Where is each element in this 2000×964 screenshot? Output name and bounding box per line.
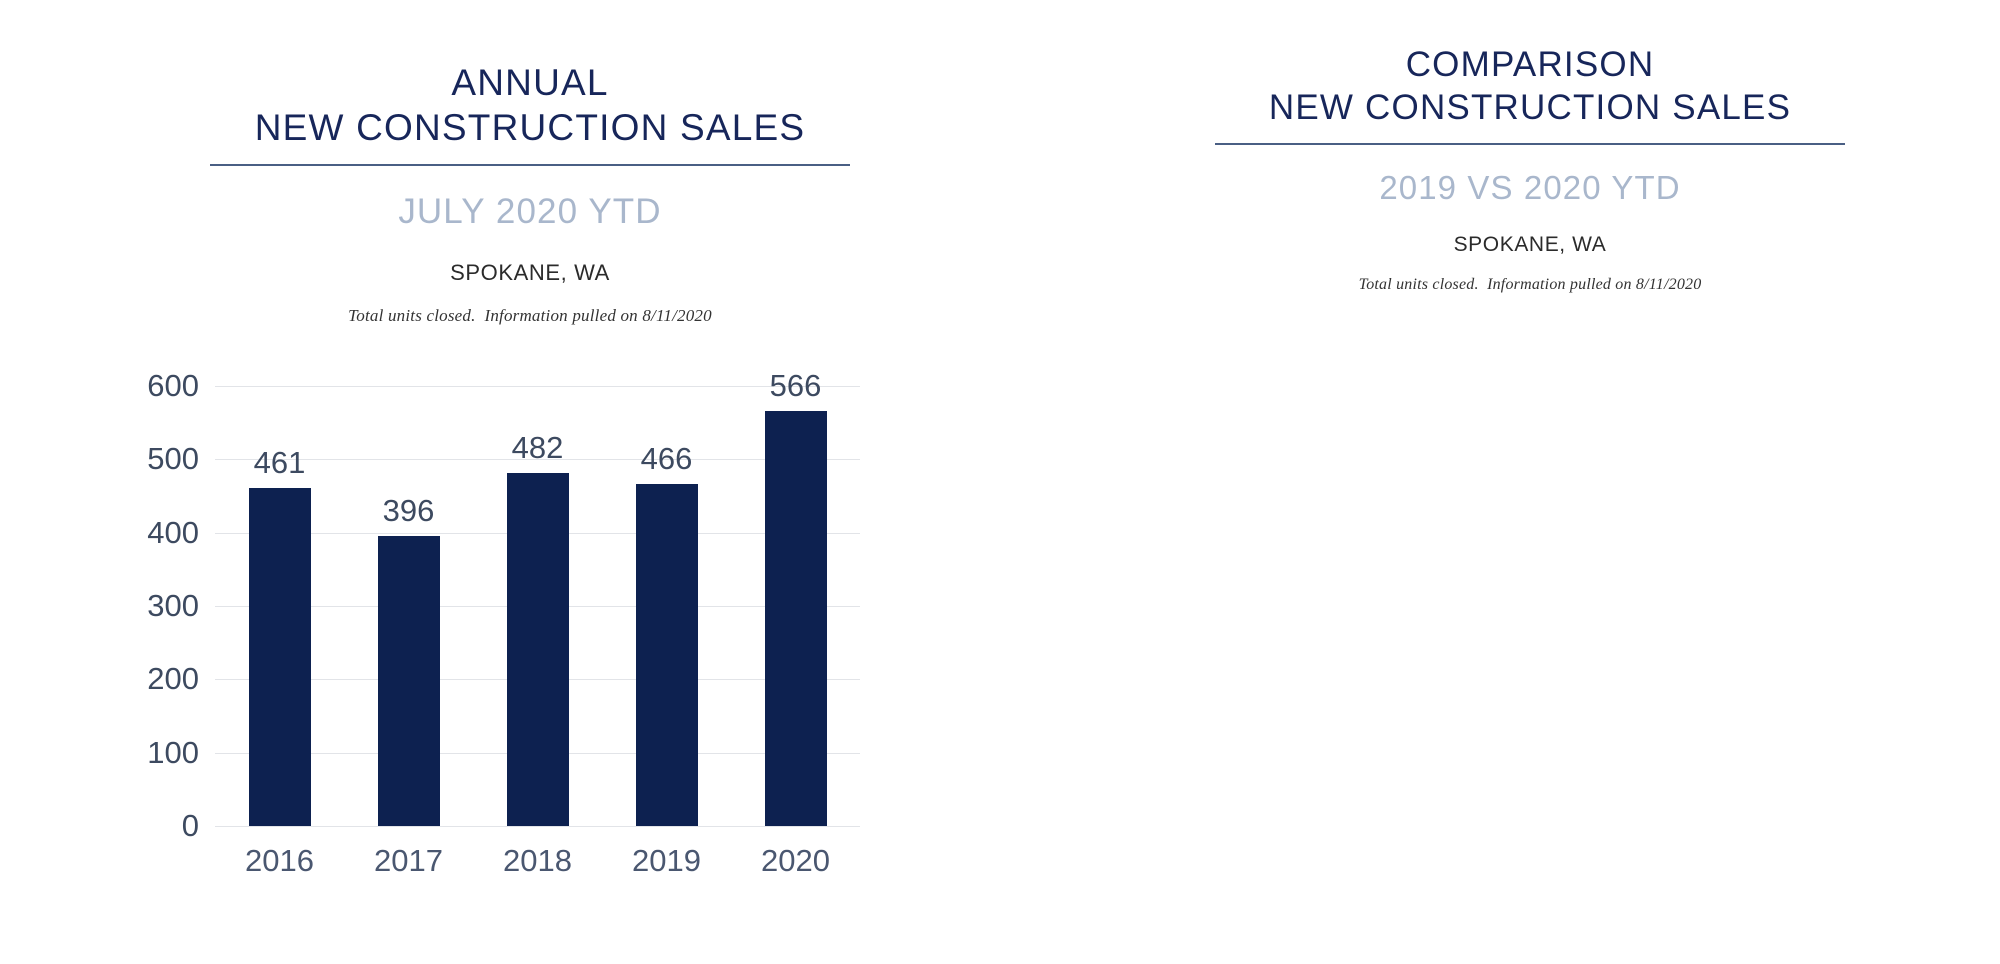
annual-title-line-1: ANNUAL: [0, 60, 1060, 105]
x-axis-tick-label: 2018: [503, 843, 572, 879]
gridline: 0: [215, 826, 860, 827]
bar-value-label: 482: [512, 430, 564, 466]
y-axis-tick-label: 400: [147, 515, 215, 551]
infographic-page: ANNUAL NEW CONSTRUCTION SALES JULY 2020 …: [0, 0, 2000, 964]
annual-subtitle: JULY 2020 YTD: [0, 192, 1060, 232]
panel-comparison-sales: COMPARISON NEW CONSTRUCTION SALES 2019 V…: [1060, 0, 2000, 964]
y-axis-tick-label: 500: [147, 441, 215, 477]
x-axis-tick-label: 2016: [245, 843, 314, 879]
annual-title-line-2: NEW CONSTRUCTION SALES: [0, 105, 1060, 150]
comparison-subtitle: 2019 VS 2020 YTD: [1060, 169, 2000, 207]
bar-value-label: 396: [383, 493, 435, 529]
y-axis-tick-label: 0: [182, 808, 215, 844]
comparison-location: SPOKANE, WA: [1060, 233, 2000, 257]
panel-annual-sales: ANNUAL NEW CONSTRUCTION SALES JULY 2020 …: [0, 0, 1060, 964]
annual-note: Total units closed. Information pulled o…: [0, 306, 1060, 326]
bar-value-label: 466: [641, 441, 693, 477]
x-axis-tick-label: 2019: [632, 843, 701, 879]
bar: 466: [636, 484, 698, 826]
comparison-header: COMPARISON NEW CONSTRUCTION SALES 2019 V…: [1060, 44, 2000, 294]
bar-value-label: 461: [254, 445, 306, 481]
x-axis-tick-label: 2020: [761, 843, 830, 879]
annual-header: ANNUAL NEW CONSTRUCTION SALES JULY 2020 …: [0, 60, 1060, 326]
comparison-title-line-1: COMPARISON: [1060, 44, 2000, 87]
y-axis-tick-label: 100: [147, 735, 215, 771]
y-axis-tick-label: 300: [147, 588, 215, 624]
x-axis-tick-label: 2017: [374, 843, 443, 879]
y-axis-tick-label: 600: [147, 368, 215, 404]
annual-title-divider: [210, 164, 850, 166]
comparison-title-line-2: NEW CONSTRUCTION SALES: [1060, 87, 2000, 130]
annual-sales-bar-chart: 6005004003002001000 20164612017396201848…: [215, 386, 860, 826]
comparison-title-divider: [1215, 143, 1845, 145]
bar: 566: [765, 411, 827, 826]
comparison-note: Total units closed. Information pulled o…: [1060, 276, 2000, 294]
y-axis-tick-label: 200: [147, 661, 215, 697]
bar-value-label: 566: [770, 368, 822, 404]
annual-location: SPOKANE, WA: [0, 260, 1060, 286]
bar: 396: [378, 536, 440, 826]
bar: 461: [249, 488, 311, 826]
bar: 482: [507, 473, 569, 826]
